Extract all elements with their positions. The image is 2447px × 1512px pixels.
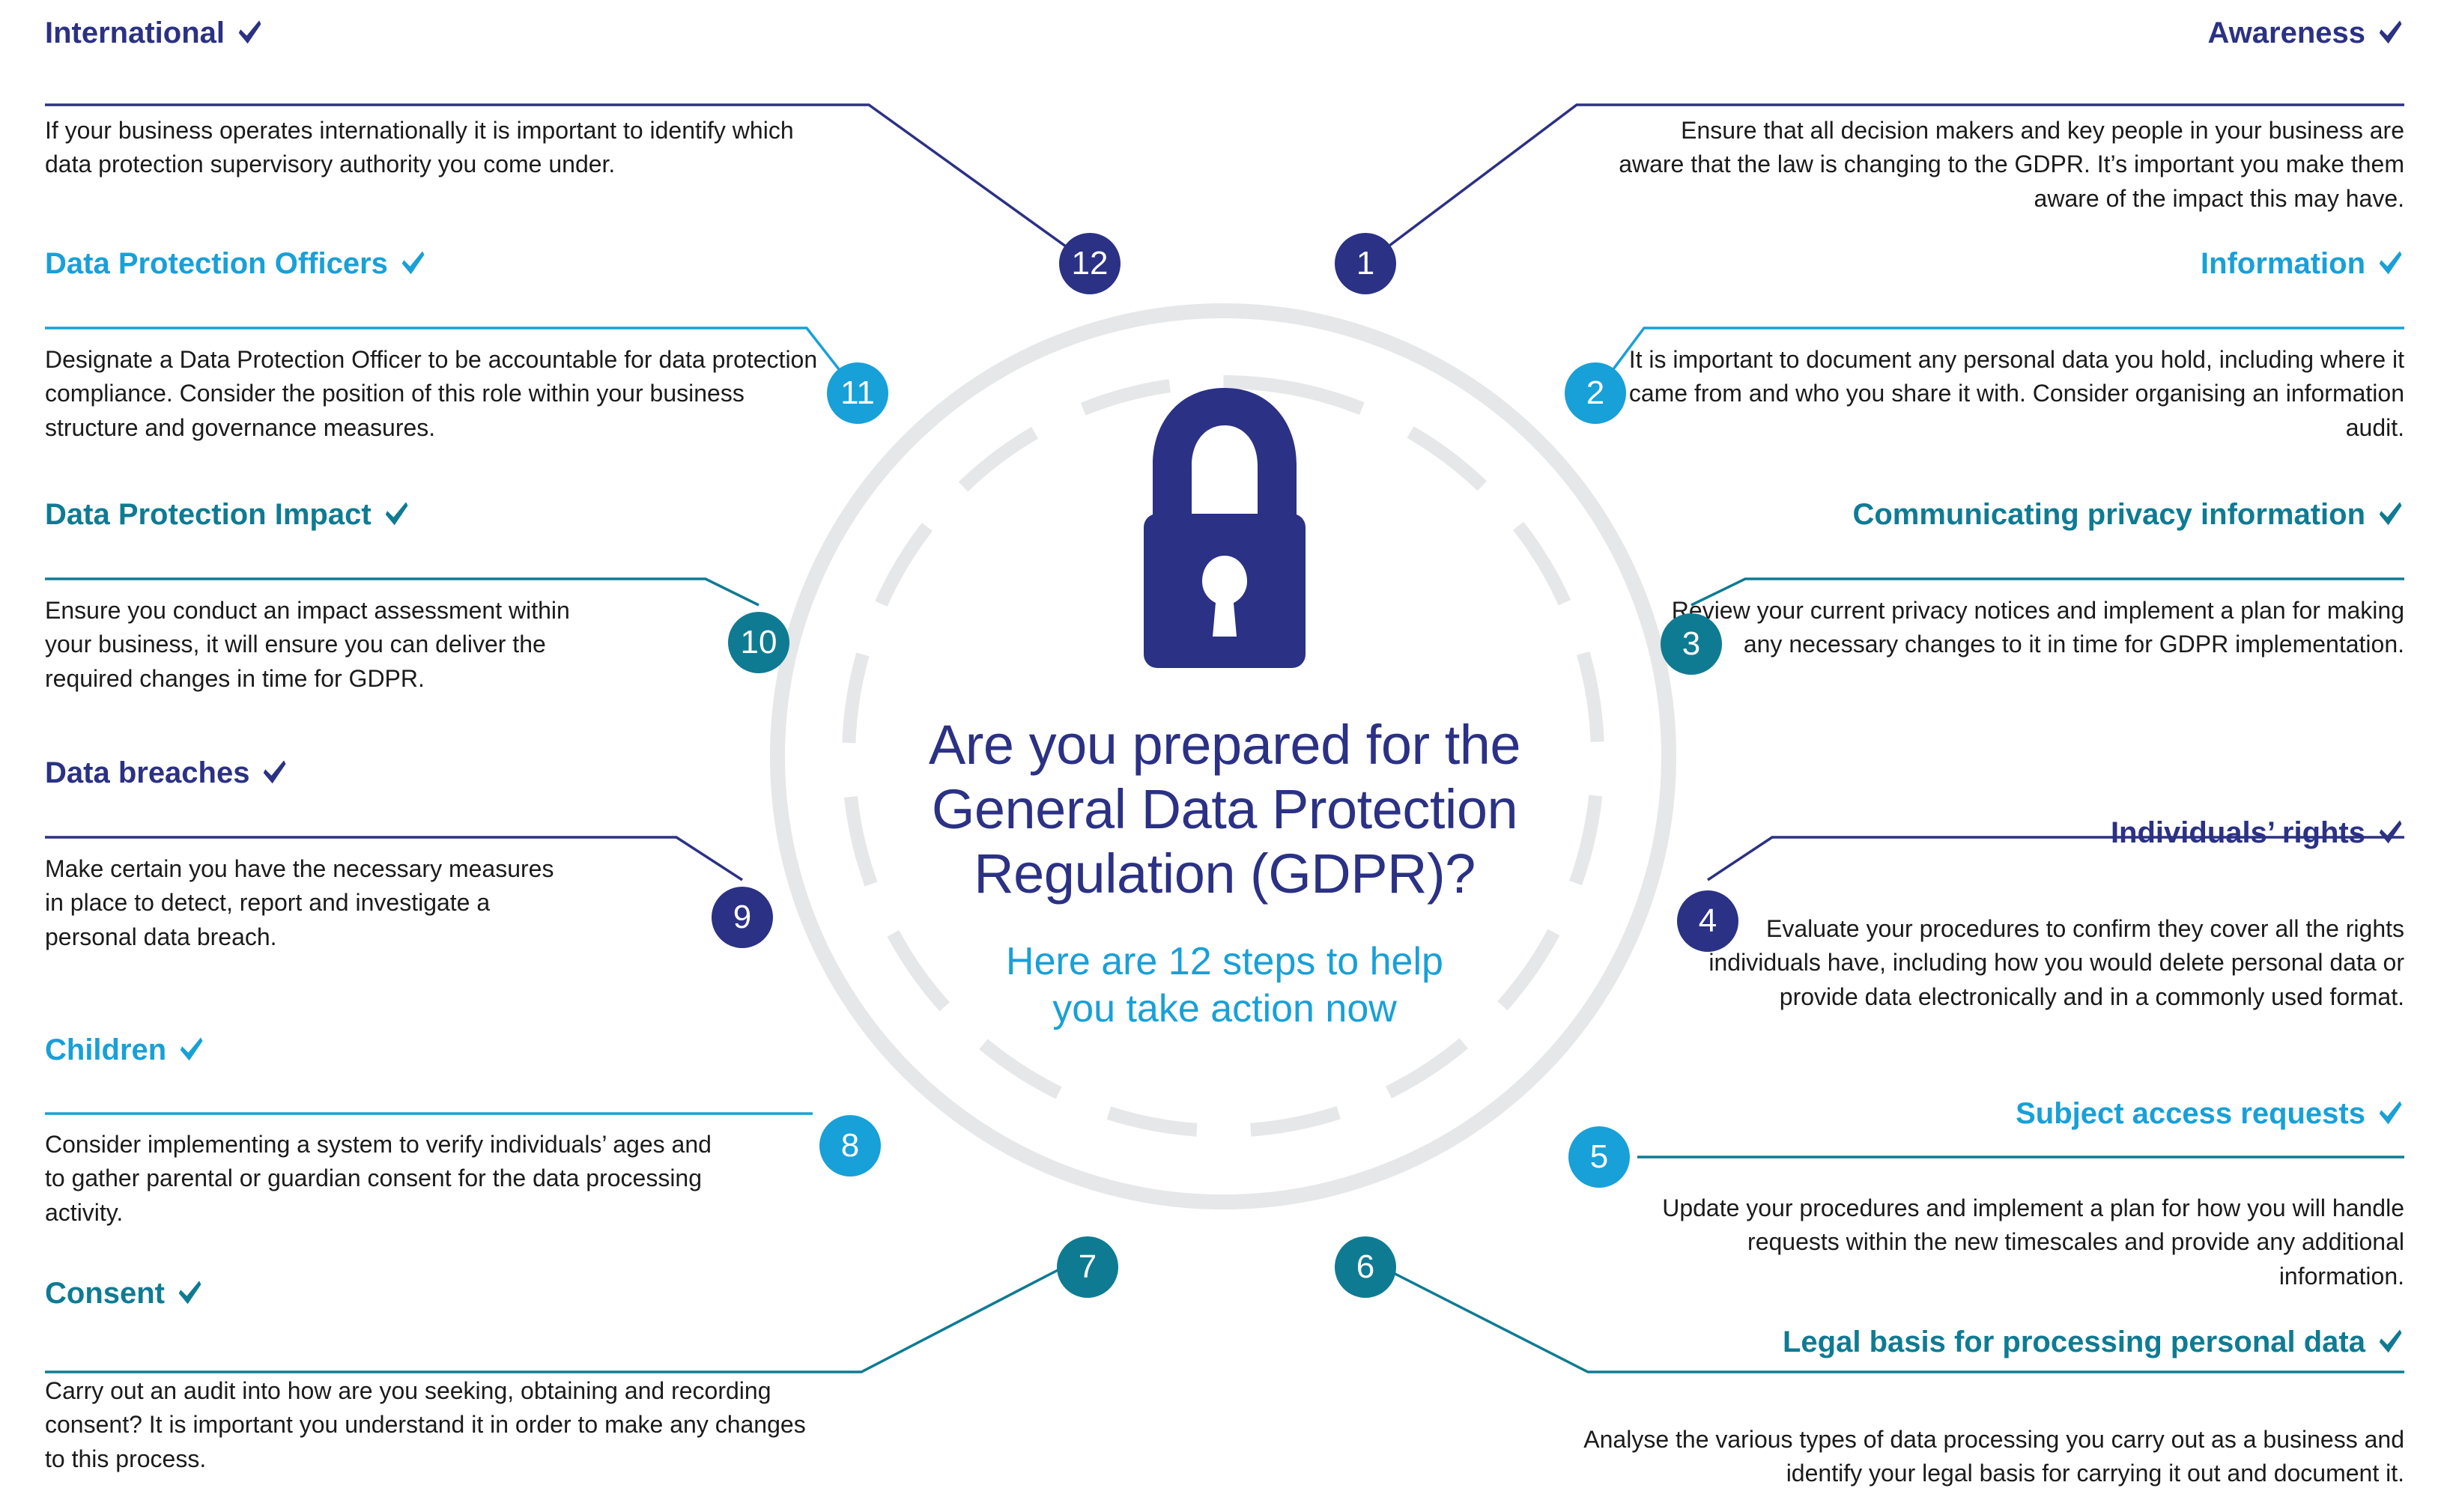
step-title-data-breaches: Data breaches xyxy=(45,756,249,789)
step-title-subject-access-requests: Subject access requests xyxy=(2016,1097,2365,1130)
step-marker-8[interactable]: 8 xyxy=(819,1115,881,1176)
page-subtitle: Here are 12 steps to help you take actio… xyxy=(880,938,1569,1032)
check-icon xyxy=(2376,249,2404,278)
step-card-data-protection-impact: Data Protection Impact Ensure you conduc… xyxy=(45,498,719,696)
center-block: Are you prepared for the General Data Pr… xyxy=(880,382,1569,1032)
page-subtitle-line-1: Here are 12 steps to help xyxy=(880,938,1569,985)
step-title-consent-row: Consent xyxy=(45,1277,794,1310)
step-marker-10[interactable]: 10 xyxy=(728,612,789,673)
step-title-children-row: Children xyxy=(45,1033,794,1066)
step-card-communicating-privacy-information: Communicating privacy information Review… xyxy=(1610,498,2404,662)
step-body-data-protection-impact: Ensure you conduct an impact assessment … xyxy=(45,594,614,696)
step-title-data-protection-impact: Data Protection Impact xyxy=(45,498,372,531)
check-icon xyxy=(175,1279,204,1308)
step-body-data-breaches: Make certain you have the necessary meas… xyxy=(45,852,569,954)
step-marker-5[interactable]: 5 xyxy=(1568,1126,1630,1188)
check-icon xyxy=(235,19,264,47)
padlock-icon xyxy=(880,382,1569,674)
step-card-subject-access-requests: Subject access requests Update your proc… xyxy=(1610,1097,2404,1293)
step-title-legal-basis: Legal basis for processing personal data xyxy=(1783,1326,2365,1358)
step-marker-7[interactable]: 7 xyxy=(1057,1236,1118,1298)
page-subtitle-line-2: you take action now xyxy=(880,986,1569,1032)
step-body-data-protection-officers: Designate a Data Protection Officer to b… xyxy=(45,343,828,445)
step-title-communicating-privacy-information-row: Communicating privacy information xyxy=(1610,498,2404,531)
step-title-information: Information xyxy=(2201,247,2365,280)
step-body-consent: Carry out an audit into how are you seek… xyxy=(45,1374,809,1476)
page-title-line-1: Are you prepared for the xyxy=(880,713,1569,777)
check-icon xyxy=(2376,1328,2404,1356)
step-card-information: Information It is important to document … xyxy=(1610,247,2404,445)
step-body-children: Consider implementing a system to verify… xyxy=(45,1128,734,1230)
step-title-awareness: Awareness xyxy=(2207,16,2365,49)
check-icon xyxy=(398,249,427,278)
step-title-data-breaches-row: Data breaches xyxy=(45,756,719,789)
infographic-canvas: Are you prepared for the General Data Pr… xyxy=(0,0,2447,1512)
step-marker-6[interactable]: 6 xyxy=(1335,1236,1396,1298)
step-marker-11[interactable]: 11 xyxy=(827,362,888,424)
step-body-subject-access-requests: Update your procedures and implement a p… xyxy=(1655,1191,2404,1293)
step-title-data-protection-impact-row: Data Protection Impact xyxy=(45,498,719,531)
step-card-international: International If your business operates … xyxy=(45,16,839,182)
step-card-data-protection-officers: Data Protection Officers Designate a Dat… xyxy=(45,247,839,445)
step-marker-1[interactable]: 1 xyxy=(1335,233,1396,294)
step-card-legal-basis: Legal basis for processing personal data… xyxy=(1543,1326,2404,1491)
step-title-consent: Consent xyxy=(45,1277,165,1310)
step-marker-9[interactable]: 9 xyxy=(712,887,773,948)
step-marker-3[interactable]: 3 xyxy=(1661,613,1722,675)
step-body-individuals-rights: Evaluate your procedures to confirm they… xyxy=(1685,912,2404,1014)
step-card-consent: Consent Carry out an audit into how are … xyxy=(45,1277,794,1476)
step-marker-2[interactable]: 2 xyxy=(1565,362,1626,424)
step-title-information-row: Information xyxy=(1610,247,2404,280)
step-title-awareness-row: Awareness xyxy=(1610,16,2404,49)
step-body-legal-basis: Analyse the various types of data proces… xyxy=(1543,1423,2404,1491)
step-title-international-row: International xyxy=(45,16,839,49)
step-title-data-protection-officers: Data Protection Officers xyxy=(45,247,388,280)
page-title-line-2: General Data Protection xyxy=(880,777,1569,842)
check-icon xyxy=(2376,500,2404,529)
step-card-data-breaches: Data breaches Make certain you have the … xyxy=(45,756,719,954)
check-icon xyxy=(2376,1099,2404,1128)
step-body-communicating-privacy-information: Review your current privacy notices and … xyxy=(1655,594,2404,662)
step-body-information: It is important to document any personal… xyxy=(1610,343,2404,445)
step-title-data-protection-officers-row: Data Protection Officers xyxy=(45,247,839,280)
step-title-communicating-privacy-information: Communicating privacy information xyxy=(1852,498,2365,531)
step-title-international: International xyxy=(45,16,225,49)
check-icon xyxy=(260,759,288,787)
page-title: Are you prepared for the General Data Pr… xyxy=(880,713,1569,905)
step-card-children: Children Consider implementing a system … xyxy=(45,1033,794,1230)
step-card-awareness: Awareness Ensure that all decision maker… xyxy=(1610,16,2404,216)
check-icon xyxy=(2376,19,2404,47)
step-title-subject-access-requests-row: Subject access requests xyxy=(1610,1097,2404,1130)
check-icon xyxy=(177,1036,205,1064)
step-body-international: If your business operates internationall… xyxy=(45,114,828,182)
check-icon xyxy=(382,500,410,529)
step-title-individuals-rights: Individuals’ rights xyxy=(2111,816,2365,849)
check-icon xyxy=(2376,819,2404,847)
step-title-individuals-rights-row: Individuals’ rights xyxy=(1610,816,2404,849)
step-body-awareness: Ensure that all decision makers and key … xyxy=(1610,114,2404,216)
step-title-legal-basis-row: Legal basis for processing personal data xyxy=(1543,1326,2404,1358)
step-title-children: Children xyxy=(45,1033,166,1066)
step-marker-12[interactable]: 12 xyxy=(1059,233,1121,294)
page-title-line-3: Regulation (GDPR)? xyxy=(880,842,1569,906)
step-marker-4[interactable]: 4 xyxy=(1677,890,1738,952)
